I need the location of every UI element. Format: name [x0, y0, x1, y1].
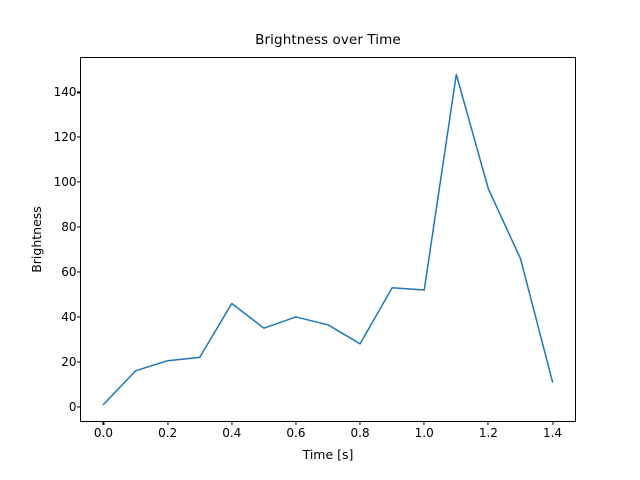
x-axis-tick-label: 1.4	[543, 426, 562, 440]
y-axis-tick-mark	[77, 182, 81, 183]
data-line-brightness	[103, 75, 552, 405]
y-axis-tick-mark	[77, 272, 81, 273]
x-axis-tick-label: 0.6	[286, 426, 305, 440]
line-plot-svg	[81, 58, 575, 421]
y-axis-tick-label: 40	[61, 310, 76, 324]
y-axis-tick-label: 80	[61, 220, 76, 234]
x-axis-tick-mark	[552, 421, 553, 425]
chart-title: Brightness over Time	[80, 32, 576, 48]
y-axis-tick-label: 140	[54, 85, 77, 99]
x-axis-label: Time [s]	[80, 447, 576, 462]
y-axis-tick-mark	[77, 406, 81, 407]
x-axis-tick-mark	[103, 421, 104, 425]
x-axis-tick-label: 0.0	[94, 426, 113, 440]
x-axis-tick-label: 0.8	[351, 426, 370, 440]
y-axis-tick-mark	[77, 137, 81, 138]
x-axis-tick-mark	[231, 421, 232, 425]
y-axis-tick-label: 120	[54, 130, 77, 144]
plot-axes: 0204060801001201400.00.20.40.60.81.01.21…	[80, 57, 576, 422]
y-axis-tick-mark	[77, 92, 81, 93]
x-axis-tick-label: 0.2	[158, 426, 177, 440]
x-axis-tick-mark	[295, 421, 296, 425]
x-axis-tick-mark	[167, 421, 168, 425]
y-axis-tick-mark	[77, 316, 81, 317]
y-axis-tick-label: 100	[54, 175, 77, 189]
y-axis-tick-mark	[77, 361, 81, 362]
x-axis-tick-mark	[360, 421, 361, 425]
y-axis-tick-mark	[77, 227, 81, 228]
figure-canvas: Brightness over Time 0204060801001201400…	[0, 0, 640, 480]
x-axis-tick-label: 1.0	[415, 426, 434, 440]
x-axis-tick-label: 1.2	[479, 426, 498, 440]
x-axis-tick-label: 0.4	[222, 426, 241, 440]
y-axis-tick-label: 0	[69, 400, 77, 414]
x-axis-tick-mark	[488, 421, 489, 425]
y-axis-tick-label: 60	[61, 265, 76, 279]
y-axis-label: Brightness	[27, 57, 47, 422]
y-axis-tick-label: 20	[61, 355, 76, 369]
x-axis-tick-mark	[424, 421, 425, 425]
